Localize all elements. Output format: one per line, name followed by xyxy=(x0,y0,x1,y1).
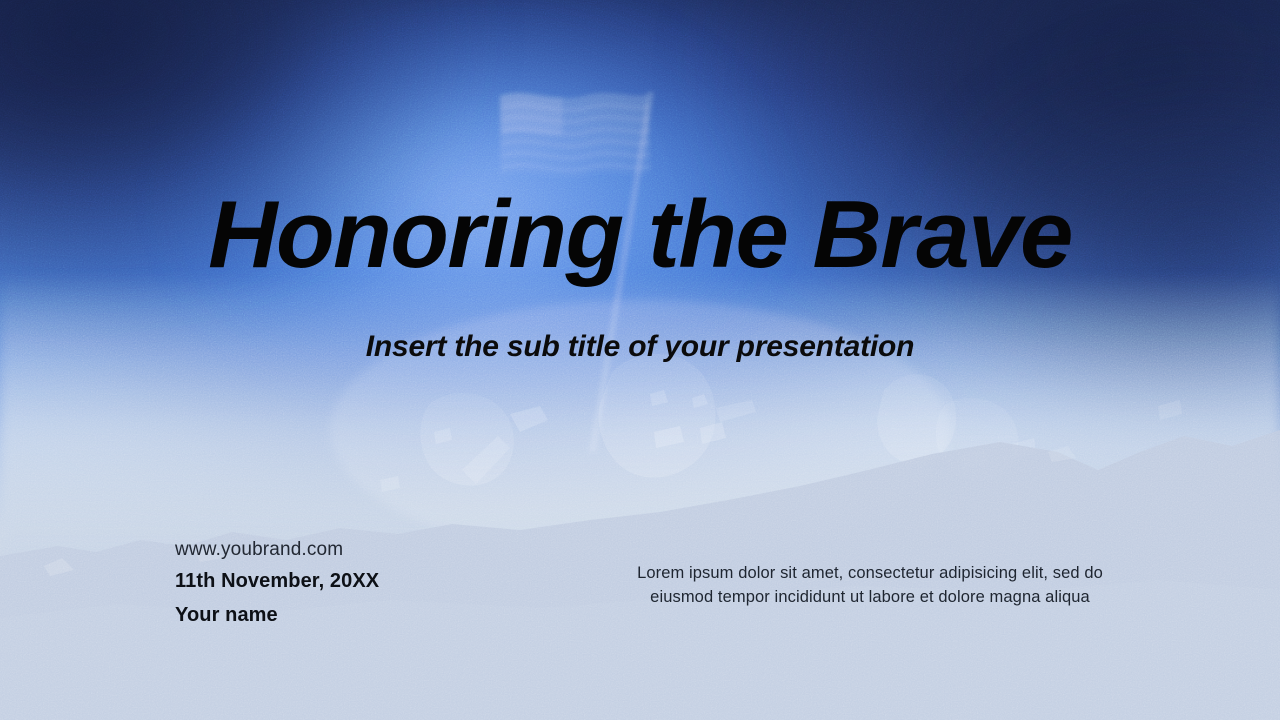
footer-presenter-name: Your name xyxy=(175,598,379,632)
slide-content: Honoring the Brave Insert the sub title … xyxy=(0,0,1280,720)
footer-meta-block: www.youbrand.com 11th November, 20XX You… xyxy=(175,536,379,632)
body-paragraph: Lorem ipsum dolor sit amet, consectetur … xyxy=(612,561,1128,609)
slide-title: Honoring the Brave xyxy=(0,186,1280,284)
presentation-slide: Honoring the Brave Insert the sub title … xyxy=(0,0,1280,720)
slide-subtitle: Insert the sub title of your presentatio… xyxy=(0,329,1280,365)
footer-website: www.youbrand.com xyxy=(175,536,379,564)
footer-date: 11th November, 20XX xyxy=(175,564,379,598)
